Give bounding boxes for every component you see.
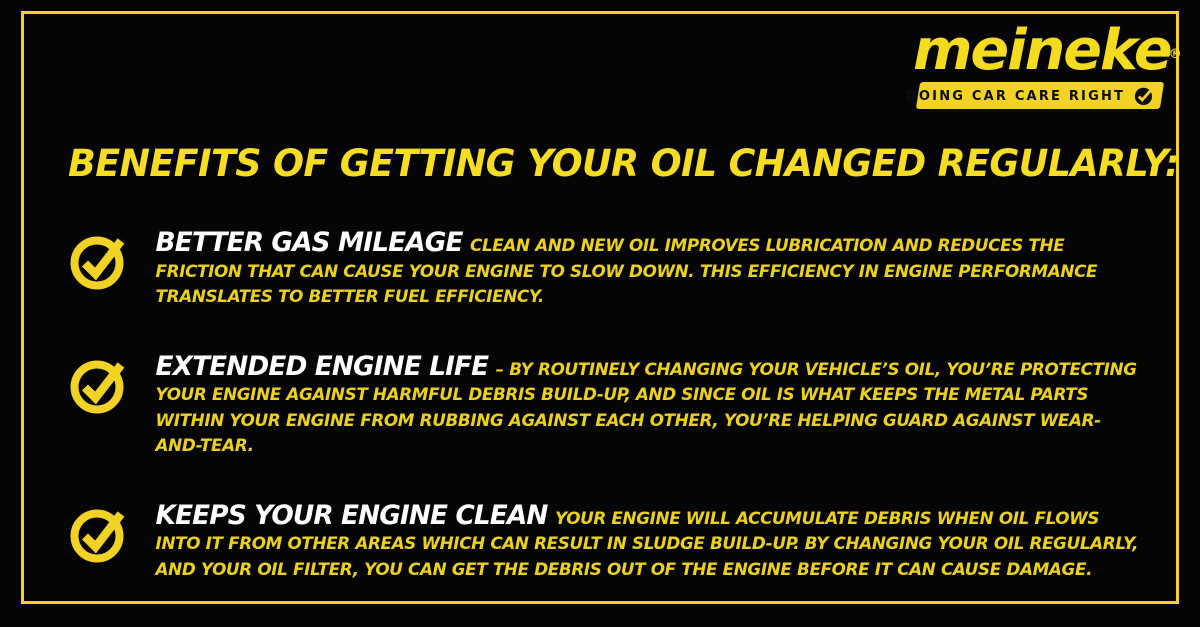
page-title: BENEFITS OF GETTING YOUR OIL CHANGED REG… bbox=[68, 144, 1179, 184]
list-item-text: KEEPS YOUR ENGINE CLEAN YOUR ENGINE WILL… bbox=[138, 501, 1140, 584]
logo-tagline-text: DOING CAR CARE RIGHT bbox=[906, 88, 1125, 103]
check-circle-icon bbox=[66, 230, 138, 292]
list-item-separator: – bbox=[490, 360, 509, 380]
check-circle-icon bbox=[66, 503, 138, 565]
registered-trademark-icon: ® bbox=[1169, 26, 1182, 84]
logo-tagline-bar-inner: DOING CAR CARE RIGHT bbox=[906, 85, 1155, 107]
list-item-heading: EXTENDED ENGINE LIFE bbox=[156, 351, 491, 382]
list-item: KEEPS YOUR ENGINE CLEAN YOUR ENGINE WILL… bbox=[66, 501, 1166, 584]
benefits-list: BETTER GAS MILEAGE CLEAN AND NEW OIL IMP… bbox=[66, 228, 1166, 583]
logo-wordmark: meineke ® bbox=[913, 22, 1171, 80]
logo-tagline-bar: DOING CAR CARE RIGHT bbox=[916, 82, 1164, 109]
check-circle-icon bbox=[66, 354, 138, 416]
list-item: BETTER GAS MILEAGE CLEAN AND NEW OIL IMP… bbox=[66, 228, 1166, 311]
check-circle-icon bbox=[1133, 85, 1155, 107]
list-item-text: BETTER GAS MILEAGE CLEAN AND NEW OIL IMP… bbox=[138, 228, 1140, 311]
list-item-text: EXTENDED ENGINE LIFE – BY ROUTINELY CHAN… bbox=[138, 352, 1140, 460]
poster-canvas: meineke ® DOING CAR CARE RIGHT BENEFITS … bbox=[0, 0, 1200, 627]
logo-wordmark-text: meineke bbox=[913, 18, 1171, 83]
list-item-heading: BETTER GAS MILEAGE bbox=[156, 227, 465, 258]
list-item-heading: KEEPS YOUR ENGINE CLEAN bbox=[156, 500, 550, 531]
meineke-logo: meineke ® DOING CAR CARE RIGHT bbox=[918, 22, 1162, 109]
list-item: EXTENDED ENGINE LIFE – BY ROUTINELY CHAN… bbox=[66, 352, 1166, 460]
